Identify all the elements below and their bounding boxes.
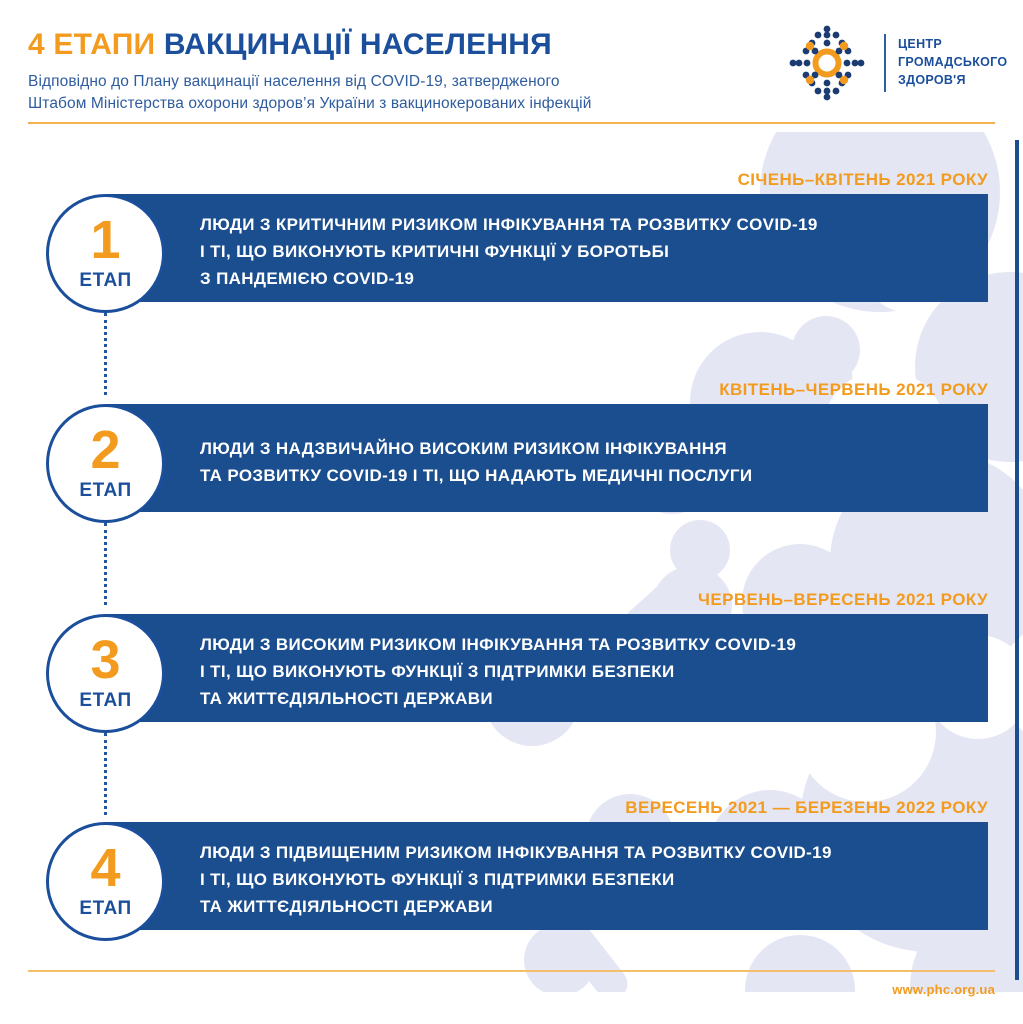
stage-1-bar: ЛЮДИ З КРИТИЧНИМ РИЗИКОМ ІНФІКУВАННЯ ТА … xyxy=(105,194,988,302)
footer-divider xyxy=(28,970,995,972)
stage-2-description: ЛЮДИ З НАДЗВИЧАЙНО ВИСОКИМ РИЗИКОМ ІНФІК… xyxy=(200,436,752,490)
stage-2-label: ЕТАП xyxy=(49,480,162,502)
stage-1-label: ЕТАП xyxy=(49,270,162,292)
page-header: 4 ЕТАПИ ВАКЦИНАЦІЇ НАСЕЛЕННЯ Відповідно … xyxy=(0,0,1023,132)
stage-1-number: 1 xyxy=(49,213,162,267)
stage-3-bar: ЛЮДИ З ВИСОКИМ РИЗИКОМ ІНФІКУВАННЯ ТА РО… xyxy=(105,614,988,722)
page-title: 4 ЕТАПИ ВАКЦИНАЦІЇ НАСЕЛЕННЯ xyxy=(28,30,552,60)
stage-4-description: ЛЮДИ З ПІДВИЩЕНИМ РИЗИКОМ ІНФІКУВАННЯ ТА… xyxy=(200,840,832,921)
stage-1-date: СІЧЕНЬ–КВІТЕНЬ 2021 РОКУ xyxy=(738,170,988,190)
stage-4-number: 4 xyxy=(49,841,162,895)
stage-4-badge: 4 ЕТАП xyxy=(46,822,165,941)
page-footer: www.phc.org.ua xyxy=(0,964,1023,1024)
stage-2-number: 2 xyxy=(49,423,162,477)
page-title-main: ВАКЦИНАЦІЇ НАСЕЛЕННЯ xyxy=(164,28,552,61)
virus-dot-rosette-icon xyxy=(786,22,868,104)
header-divider xyxy=(28,122,995,124)
stage-1-badge: 1 ЕТАП xyxy=(46,194,165,313)
stage-3-description: ЛЮДИ З ВИСОКИМ РИЗИКОМ ІНФІКУВАННЯ ТА РО… xyxy=(200,632,796,713)
website-link[interactable]: www.phc.org.ua xyxy=(892,982,995,997)
stage-2-date: КВІТЕНЬ–ЧЕРВЕНЬ 2021 РОКУ xyxy=(719,380,988,400)
page-title-accent: 4 ЕТАПИ xyxy=(28,28,155,61)
stage-4-label: ЕТАП xyxy=(49,898,162,920)
stage-4-bar: ЛЮДИ З ПІДВИЩЕНИМ РИЗИКОМ ІНФІКУВАННЯ ТА… xyxy=(105,822,988,930)
stage-4-date: ВЕРЕСЕНЬ 2021 — БЕРЕЗЕНЬ 2022 РОКУ xyxy=(625,798,988,818)
infographic-page: 4 ЕТАПИ ВАКЦИНАЦІЇ НАСЕЛЕННЯ Відповідно … xyxy=(0,0,1023,1024)
stage-1-description: ЛЮДИ З КРИТИЧНИМ РИЗИКОМ ІНФІКУВАННЯ ТА … xyxy=(200,212,818,293)
stage-3-label: ЕТАП xyxy=(49,690,162,712)
stages-list: СІЧЕНЬ–КВІТЕНЬ 2021 РОКУ ЛЮДИ З КРИТИЧНИ… xyxy=(0,0,1023,1024)
organization-logo: ЦЕНТР ГРОМАДСЬКОГО ЗДОРОВ'Я xyxy=(786,22,998,104)
logo-divider xyxy=(884,34,886,92)
stage-connector-1-2 xyxy=(104,313,107,395)
stage-3-date: ЧЕРВЕНЬ–ВЕРЕСЕНЬ 2021 РОКУ xyxy=(698,590,988,610)
stage-3-number: 3 xyxy=(49,633,162,687)
stage-2-badge: 2 ЕТАП xyxy=(46,404,165,523)
stage-connector-3-4 xyxy=(104,733,107,815)
logo-wordmark: ЦЕНТР ГРОМАДСЬКОГО ЗДОРОВ'Я xyxy=(898,35,1007,89)
stage-3-badge: 3 ЕТАП xyxy=(46,614,165,733)
page-subtitle: Відповідно до Плану вакцинації населення… xyxy=(28,71,591,115)
stage-connector-2-3 xyxy=(104,523,107,605)
stage-2-bar: ЛЮДИ З НАДЗВИЧАЙНО ВИСОКИМ РИЗИКОМ ІНФІК… xyxy=(105,404,988,512)
